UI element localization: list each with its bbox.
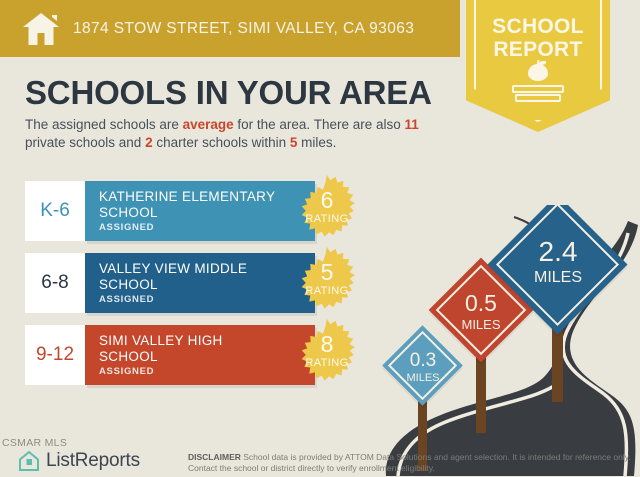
apple-icon xyxy=(527,60,549,82)
sign-distance-value: 0.5 xyxy=(441,292,521,315)
grade-range-badge: 9-12 xyxy=(25,325,85,385)
house-icon xyxy=(22,12,60,46)
rating-value: 8 xyxy=(290,333,364,356)
sign-distance-value: 2.4 xyxy=(508,238,608,266)
school-name-bar: VALLEY VIEW MIDDLE SCHOOL ASSIGNED xyxy=(85,253,315,313)
school-name-bar: KATHERINE ELEMENTARY SCHOOL ASSIGNED xyxy=(85,181,315,241)
mls-label: CSMAR MLS xyxy=(2,437,67,449)
banner-icon-group xyxy=(466,60,610,103)
rating-word: average xyxy=(183,117,234,132)
road-illustration: 0.3 MILES 0.5 MILES 2.4 MILES xyxy=(376,205,640,476)
sign-distance-unit: MILES xyxy=(441,318,521,331)
sign-text: 0.3 MILES xyxy=(390,351,456,384)
header-bar: 1874 STOW STREET, SIMI VALLEY, CA 93063 xyxy=(0,0,460,57)
summary-part-3: private schools and xyxy=(25,135,145,150)
rating-badge: 5 RATING xyxy=(290,246,364,320)
disclaimer: DISCLAIMER School data is provided by AT… xyxy=(188,452,638,474)
summary-text: The assigned schools are average for the… xyxy=(25,116,450,152)
school-name-bar: SIMI VALLEY HIGH SCHOOL ASSIGNED xyxy=(85,325,315,385)
sign-text: 0.5 MILES xyxy=(441,292,521,331)
private-school-count: 11 xyxy=(405,117,419,132)
sign-distance-unit: MILES xyxy=(390,373,456,384)
summary-part-1: The assigned schools are xyxy=(25,117,183,132)
rating-value: 5 xyxy=(290,261,364,284)
listreports-logo[interactable]: ListReports xyxy=(18,450,140,472)
school-status: ASSIGNED xyxy=(99,366,154,377)
disclaimer-label: DISCLAIMER xyxy=(188,452,241,462)
sign-distance-unit: MILES xyxy=(508,270,608,286)
rating-badge: 8 RATING xyxy=(290,318,364,392)
rating-label: RATING xyxy=(290,285,364,297)
listreports-wordmark: ListReports xyxy=(46,450,140,472)
disclaimer-text: School data is provided by ATTOM Data So… xyxy=(188,452,631,473)
rating-value: 6 xyxy=(290,189,364,212)
rating-badge: 6 RATING xyxy=(290,174,364,248)
grade-range-label: 6-8 xyxy=(41,272,68,294)
summary-part-5: miles. xyxy=(297,135,336,150)
school-status: ASSIGNED xyxy=(99,222,154,233)
charter-school-count: 2 xyxy=(145,135,153,150)
school-name: KATHERINE ELEMENTARY SCHOOL xyxy=(99,189,279,221)
summary-part-2: for the area. There are also xyxy=(234,117,405,132)
book-icon xyxy=(512,85,564,103)
banner-title-line1: SCHOOL xyxy=(466,15,610,38)
listreports-house-icon xyxy=(18,450,40,472)
rating-label: RATING xyxy=(290,213,364,225)
sign-text: 2.4 MILES xyxy=(508,238,608,286)
banner-title: SCHOOL REPORT xyxy=(466,15,610,61)
summary-part-4: charter schools within xyxy=(153,135,290,150)
sign-distance-value: 0.3 xyxy=(390,351,456,370)
rating-label: RATING xyxy=(290,357,364,369)
school-name: SIMI VALLEY HIGH SCHOOL xyxy=(99,333,279,365)
school-name: VALLEY VIEW MIDDLE SCHOOL xyxy=(99,261,279,293)
grade-range-badge: K-6 xyxy=(25,181,85,241)
grade-range-label: 9-12 xyxy=(36,344,74,366)
page-title: SCHOOLS IN YOUR AREA xyxy=(25,74,432,112)
grade-range-label: K-6 xyxy=(40,200,70,222)
school-status: ASSIGNED xyxy=(99,294,154,305)
property-address: 1874 STOW STREET, SIMI VALLEY, CA 93063 xyxy=(73,20,414,38)
banner-title-line2: REPORT xyxy=(466,38,610,61)
grade-range-badge: 6-8 xyxy=(25,253,85,313)
